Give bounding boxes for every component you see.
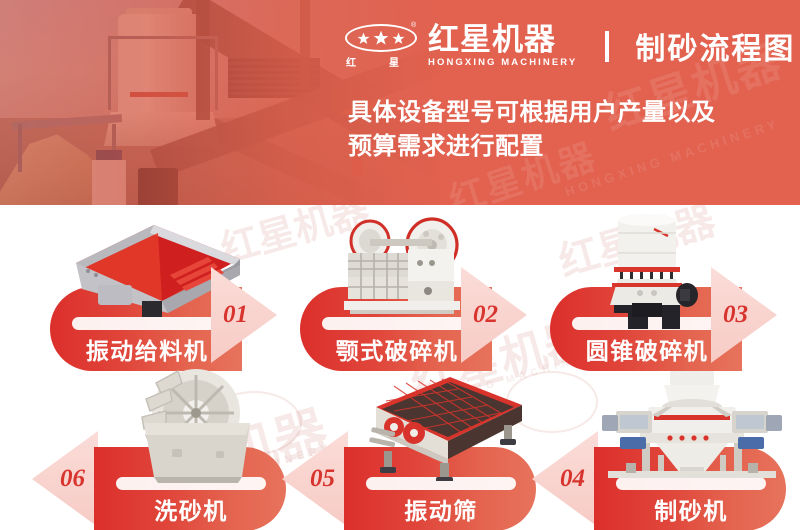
header-banner: 红星机器 HONGXING MACHINERY 红星机器 ® 红 xyxy=(0,0,800,205)
logo-char-hong: 红 xyxy=(346,54,356,69)
flowchart-page: 红星机器 HONGXING MACHINERY 红星机器 ® 红 xyxy=(0,0,800,530)
jaw-crusher-icon xyxy=(328,215,476,327)
flow-step-card[interactable]: 洗砂机 xyxy=(80,383,302,530)
flow-step-card[interactable]: 振动筛 xyxy=(330,383,552,530)
star-icon xyxy=(373,30,389,46)
logo-char-xing: 星 xyxy=(389,54,399,69)
step-number: 03 xyxy=(723,301,748,329)
step-label: 振动筛 xyxy=(330,500,552,523)
logo-oval-icon xyxy=(345,24,417,52)
cone-crusher-icon xyxy=(588,209,720,331)
step-label: 制砂机 xyxy=(580,500,800,523)
page-title: 制砂流程图 xyxy=(635,24,795,68)
brand-name-en: HONGXING MACHINERY xyxy=(428,57,577,68)
brand-header: ® 红 星 红星机器 HONGXING MACHINERY 制砂流程图 xyxy=(345,22,795,70)
process-flow-area: 红星机器 HONGXING MACHINERY 红星机器 HONGXING MA… xyxy=(0,205,800,530)
brand-name-cn: 红星机器 xyxy=(428,24,577,56)
star-icon xyxy=(357,32,370,45)
banner-subtitle: 具体设备型号可根据用户产量以及 预算需求进行配置 xyxy=(348,96,788,164)
vibrating-screen-icon xyxy=(354,371,534,481)
star-icon xyxy=(392,32,405,45)
brand-name-block: 红星机器 HONGXING MACHINERY xyxy=(428,24,577,68)
flow-arrow-right: 02 xyxy=(461,267,527,363)
flow-step-card[interactable]: 制砂机 xyxy=(580,383,800,530)
step-number: 01 xyxy=(223,301,248,329)
subtitle-line-2: 预算需求进行配置 xyxy=(348,130,788,164)
step-label: 洗砂机 xyxy=(80,500,302,523)
registered-mark: ® xyxy=(411,22,416,29)
flow-arrow-right: 03 xyxy=(711,267,777,363)
flow-arrow-right: 01 xyxy=(211,267,277,363)
sand-making-machine-icon xyxy=(586,367,798,487)
step-number: 02 xyxy=(473,301,498,329)
subtitle-line-1: 具体设备型号可根据用户产量以及 xyxy=(348,96,788,130)
header-divider xyxy=(605,31,609,62)
sand-washer-icon xyxy=(120,365,268,489)
hongxing-star-logo: ® 红 星 xyxy=(345,22,419,70)
